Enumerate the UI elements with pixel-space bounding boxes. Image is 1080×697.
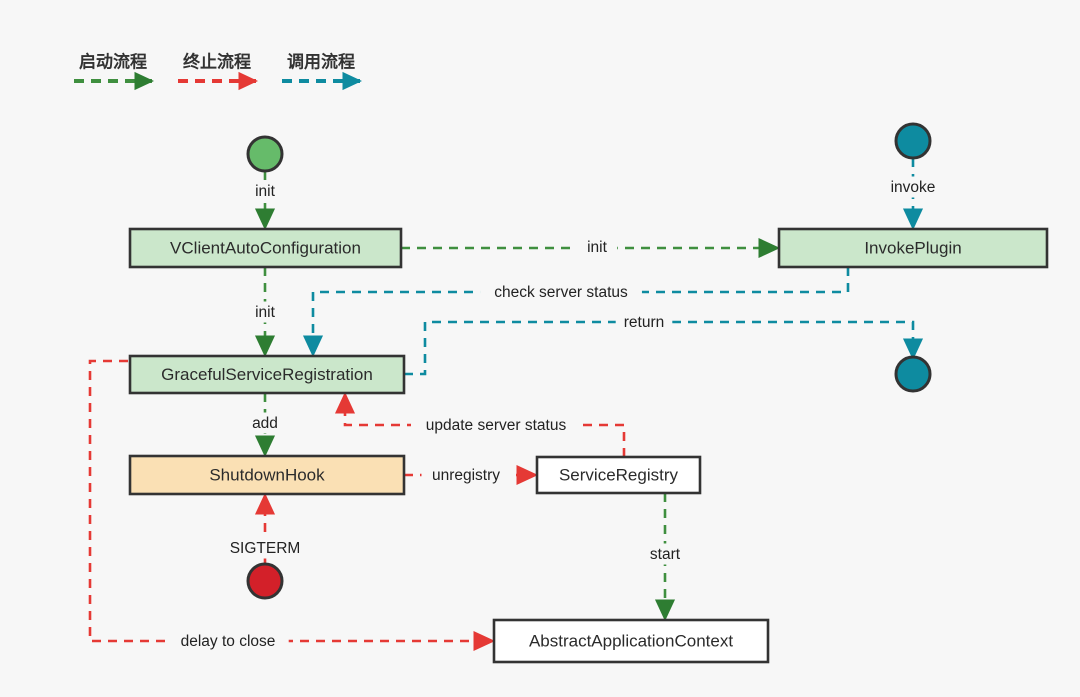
node-invoke-end-circle[interactable] <box>896 357 930 391</box>
legend-item-label: 终止流程 <box>183 51 251 71</box>
legend-item-2: 终止流程 <box>178 51 256 81</box>
node-start-circle[interactable] <box>248 137 282 171</box>
node-abstract-application-context[interactable]: AbstractApplicationContext <box>494 620 768 662</box>
node-circle-shape <box>896 124 930 158</box>
edge-label-edge-plugin-check-server-status: check server status <box>480 282 642 303</box>
edge-edge-delay-to-close <box>90 361 492 641</box>
edge-label-edge-start-to-vclient: init <box>245 181 285 202</box>
legend: 启动流程终止流程调用流程 <box>74 51 360 81</box>
node-circle-shape <box>248 137 282 171</box>
edge-label-edge-vclient-to-graceful: init <box>245 302 285 323</box>
edge-label-text: start <box>650 546 681 563</box>
node-shutdown-hook[interactable]: ShutdownHook <box>130 456 404 494</box>
edge-label-edge-sigterm-to-shutdownhook: SIGTERM <box>230 538 301 559</box>
legend-item-label: 启动流程 <box>79 51 147 71</box>
edge-label-text: return <box>624 314 665 331</box>
edge-label-edge-vclient-to-invokeplugin: init <box>577 237 617 258</box>
node-box-label: ServiceRegistry <box>559 465 679 484</box>
edge-label-text: update server status <box>426 417 567 434</box>
edge-label-text: unregistry <box>432 467 500 484</box>
edge-edge-plugin-check-server-status <box>313 267 848 354</box>
node-box-label: VClientAutoConfiguration <box>170 238 361 257</box>
edge-label-text: init <box>255 183 276 200</box>
node-circle-shape <box>896 357 930 391</box>
edge-label-text: SIGTERM <box>230 540 301 557</box>
node-sigterm-circle[interactable] <box>248 564 282 598</box>
edge-label-text: invoke <box>891 179 936 196</box>
node-box-label: AbstractApplicationContext <box>529 631 733 650</box>
legend-item-3: 调用流程 <box>282 51 360 81</box>
legend-item-label: 调用流程 <box>287 51 355 71</box>
edge-label-text: init <box>255 304 276 321</box>
flow-diagram: 启动流程终止流程调用流程 VClientAutoConfigurationInv… <box>0 0 1080 697</box>
edge-label-edge-graceful-to-shutdownhook: add <box>249 413 281 434</box>
flow-diagram-canvas: 启动流程终止流程调用流程 VClientAutoConfigurationInv… <box>0 0 1080 697</box>
edge-label-text: init <box>587 239 608 256</box>
edge-label-text: check server status <box>494 284 628 301</box>
node-invoke-plugin[interactable]: InvokePlugin <box>779 229 1047 267</box>
edge-label-text: delay to close <box>181 633 276 650</box>
legend-item-1: 启动流程 <box>74 51 152 81</box>
edge-label-edge-shutdownhook-unregistry: unregistry <box>422 465 511 486</box>
edge-label-edge-update-server-status: update server status <box>411 415 581 436</box>
node-box-label: GracefulServiceRegistration <box>161 365 373 384</box>
node-graceful-service-registration[interactable]: GracefulServiceRegistration <box>130 356 404 393</box>
node-vclient-auto-configuration[interactable]: VClientAutoConfiguration <box>130 229 401 267</box>
edge-label-edge-serviceregistry-to-context: start <box>641 544 690 565</box>
edge-label-edge-delay-to-close: delay to close <box>167 631 288 652</box>
edge-label-text: add <box>252 415 278 432</box>
node-layer: VClientAutoConfigurationInvokePluginGrac… <box>130 124 1047 662</box>
node-box-label: ShutdownHook <box>209 465 325 484</box>
node-service-registry[interactable]: ServiceRegistry <box>537 457 700 493</box>
edge-label-edge-invoke-start-to-plugin: invoke <box>885 177 942 198</box>
node-circle-shape <box>248 564 282 598</box>
edge-label-edge-graceful-return: return <box>616 312 673 333</box>
node-box-label: InvokePlugin <box>864 238 961 257</box>
node-invoke-start-circle[interactable] <box>896 124 930 158</box>
